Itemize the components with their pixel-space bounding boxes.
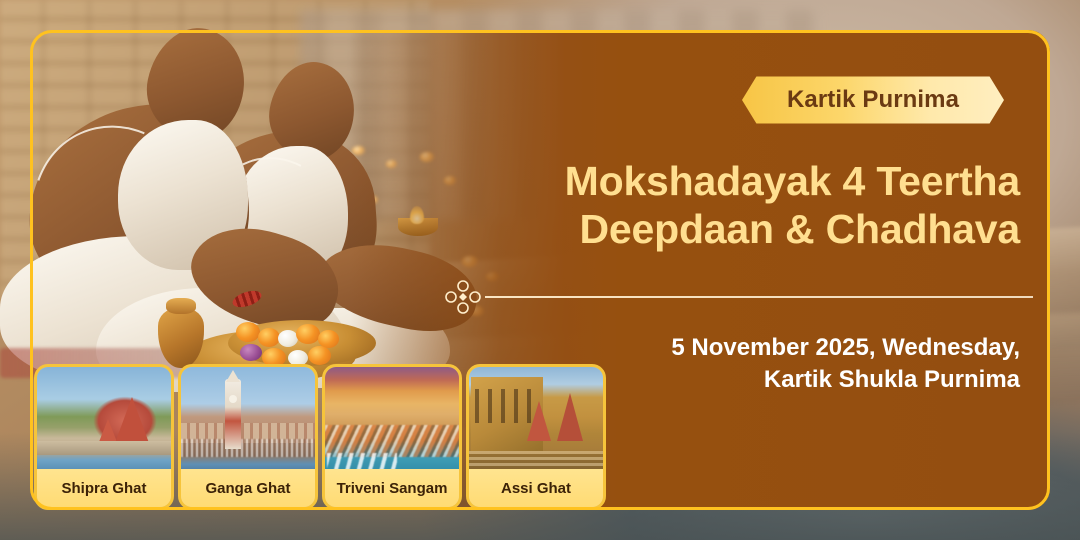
ghat-crowd: [181, 439, 315, 457]
date-line-1: 5 November 2025, Wednesday,: [520, 332, 1020, 364]
triveni-sangam-photo: [325, 367, 459, 475]
ganga-ghat-photo: [181, 367, 315, 475]
assi-ghat-photo: [469, 367, 603, 475]
clock-tower: [225, 379, 241, 449]
shipra-ghat-photo: [37, 367, 171, 475]
temple-spire: [527, 401, 551, 441]
clock-face: [229, 395, 237, 403]
teertha-card-assi-ghat[interactable]: Assi Ghat: [466, 364, 606, 510]
card-label: Ganga Ghat: [181, 469, 315, 507]
badge-ribbon-shape: Kartik Purnima: [742, 72, 1004, 128]
card-label: Shipra Ghat: [37, 469, 171, 507]
title-line-2: Deepdaan & Chadhava: [440, 206, 1020, 254]
clock-tower-spire: [226, 370, 240, 382]
temple-spire: [115, 397, 149, 443]
card-label: Triveni Sangam: [325, 469, 459, 507]
teertha-card-triveni-sangam[interactable]: Triveni Sangam: [322, 364, 462, 510]
temple-spire: [557, 393, 583, 441]
decorative-divider: [443, 279, 1033, 315]
page-title: Mokshadayak 4 Teertha Deepdaan & Chadhav…: [440, 158, 1020, 254]
teertha-card-ganga-ghat[interactable]: Ganga Ghat: [178, 364, 318, 510]
divider-rule: [485, 296, 1033, 298]
teertha-card-shipra-ghat[interactable]: Shipra Ghat: [34, 364, 174, 510]
badge-label: Kartik Purnima: [787, 86, 959, 114]
card-label: Assi Ghat: [469, 469, 603, 507]
kartik-purnima-badge: Kartik Purnima: [742, 72, 1004, 128]
teertha-card-list: Shipra Ghat Ganga Ghat Triveni Sangam: [34, 364, 606, 510]
promotional-banner: Kartik Purnima Mokshadayak 4 Teertha Dee…: [0, 0, 1080, 540]
ghat-wall: [37, 441, 171, 455]
title-line-1: Mokshadayak 4 Teertha: [440, 158, 1020, 206]
quatrefoil-ornament-icon: [443, 279, 483, 315]
